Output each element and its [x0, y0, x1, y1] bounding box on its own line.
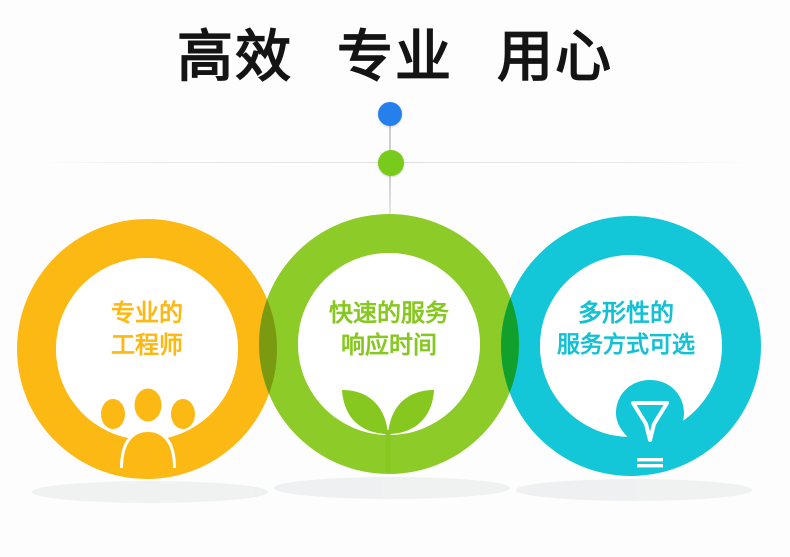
inner-disc-cyan	[540, 255, 722, 437]
infographic-canvas: 高效专业用心	[0, 0, 790, 557]
inner-disc-orange	[56, 258, 238, 440]
venn-rings	[0, 0, 790, 557]
inner-disc-green	[298, 253, 480, 435]
